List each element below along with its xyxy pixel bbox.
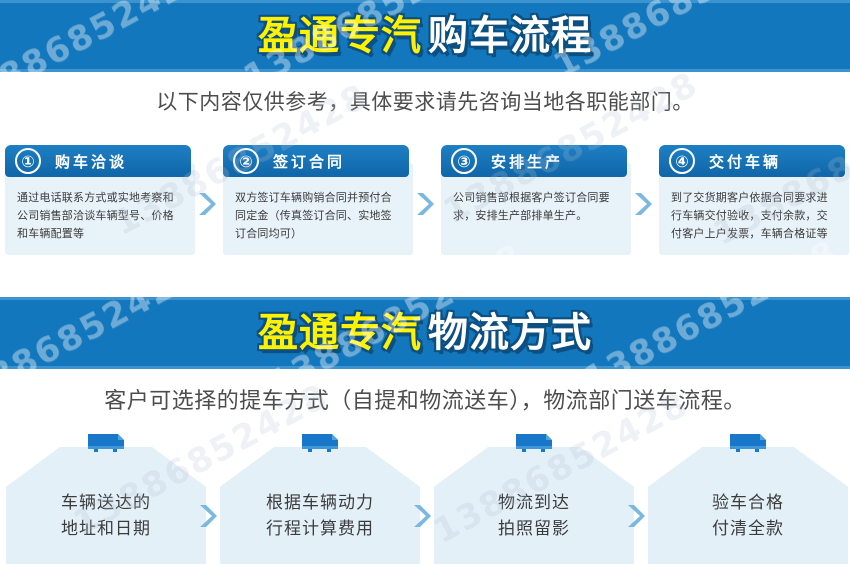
chevron-right-icon xyxy=(415,191,435,217)
banner-purchase-title: 盈通专汽购车流程 xyxy=(258,16,592,56)
logistics-step-line1: 根据车辆动力 xyxy=(266,491,374,517)
purchase-step-number-badge: ① xyxy=(15,148,41,174)
truck-icon xyxy=(299,431,341,455)
purchase-steps-row: 通过电话联系方式或实地考察和公司销售部洽谈车辆型号、价格和车辆配置等 ① 购车洽… xyxy=(0,145,850,255)
purchase-step-header: ③ 安排生产 xyxy=(441,145,627,177)
logistics-subtitle: 客户可选择的提车方式（自提和物流送车），物流部门送车流程。 xyxy=(0,383,850,415)
banner-purchase-process: 盈通专汽购车流程 xyxy=(0,0,850,72)
purchase-step-card[interactable]: 公司销售部根据客户签订合同要求，安排生产部排单生产。 ③ 安排生产 xyxy=(441,145,631,255)
truck-icon xyxy=(85,431,127,455)
purchase-subtitle: 以下内容仅供参考，具体要求请先咨询当地各职能部门。 xyxy=(0,86,850,116)
logistics-step-card[interactable]: 根据车辆动力 行程计算费用 xyxy=(220,425,420,564)
logistics-steps-row: 车辆送达的 地址和日期 根据车辆动力 行程计算费用 xyxy=(0,425,850,564)
purchase-step-header: ② 签订合同 xyxy=(223,145,409,177)
truck-icon xyxy=(727,431,769,455)
banner-section-label: 物流方式 xyxy=(428,310,592,356)
logistics-step-label: 车辆送达的 地址和日期 xyxy=(61,469,151,542)
chevron-right-icon xyxy=(412,503,432,529)
logistics-step-line2: 拍照留影 xyxy=(498,517,570,543)
purchase-step-title: 签订合同 xyxy=(273,151,345,172)
purchase-step-number-badge: ③ xyxy=(451,148,477,174)
purchase-step-card[interactable]: 通过电话联系方式或实地考察和公司销售部洽谈车辆型号、价格和车辆配置等 ① 购车洽… xyxy=(5,145,195,255)
logistics-step-card[interactable]: 物流到达 拍照留影 xyxy=(434,425,634,564)
banner-logistics-method: 盈通专汽物流方式 xyxy=(0,297,850,369)
purchase-step-title: 交付车辆 xyxy=(709,151,781,172)
logistics-step-shape: 物流到达 拍照留影 xyxy=(434,447,634,564)
banner-section-label: 购车流程 xyxy=(428,13,592,59)
logistics-step-shape: 车辆送达的 地址和日期 xyxy=(6,447,206,564)
logistics-step-label: 物流到达 拍照留影 xyxy=(498,469,570,542)
purchase-step-number-badge: ④ xyxy=(669,148,695,174)
logistics-step-label: 验车合格 付清全款 xyxy=(712,469,784,542)
logistics-step-line1: 验车合格 xyxy=(712,491,784,517)
truck-icon xyxy=(513,431,555,455)
chevron-right-icon xyxy=(198,503,218,529)
purchase-step-description: 到了交货期客户依据合同要求进行车辆交付验收，支付余款，交付客户上户发票，车辆合格… xyxy=(671,189,837,243)
purchase-step-title: 安排生产 xyxy=(491,151,563,172)
banner-brand-label: 盈通专汽 xyxy=(258,310,422,356)
purchase-step-header: ④ 交付车辆 xyxy=(659,145,845,177)
purchase-step-title: 购车洽谈 xyxy=(55,151,127,172)
logistics-step-line1: 物流到达 xyxy=(498,491,570,517)
logistics-step-shape: 验车合格 付清全款 xyxy=(648,447,848,564)
logistics-step-line2: 地址和日期 xyxy=(61,517,151,543)
chevron-right-icon xyxy=(626,503,646,529)
purchase-step-card[interactable]: 双方签订车辆购销合同并预付合同定金（传真签订合同、实地签订合同均可） ② 签订合… xyxy=(223,145,413,255)
chevron-right-icon xyxy=(197,191,217,217)
logistics-step-label: 根据车辆动力 行程计算费用 xyxy=(266,469,374,542)
purchase-step-number-badge: ② xyxy=(233,148,259,174)
chevron-right-icon xyxy=(633,191,653,217)
logistics-step-line1: 车辆送达的 xyxy=(61,491,151,517)
logistics-step-line2: 付清全款 xyxy=(712,517,784,543)
logistics-step-card[interactable]: 验车合格 付清全款 xyxy=(648,425,848,564)
banner-logistics-title: 盈通专汽物流方式 xyxy=(258,313,592,353)
purchase-step-description: 双方签订车辆购销合同并预付合同定金（传真签订合同、实地签订合同均可） xyxy=(235,189,401,243)
purchase-step-description: 公司销售部根据客户签订合同要求，安排生产部排单生产。 xyxy=(453,189,619,225)
logistics-step-line2: 行程计算费用 xyxy=(266,517,374,543)
logistics-step-card[interactable]: 车辆送达的 地址和日期 xyxy=(6,425,206,564)
banner-brand-label: 盈通专汽 xyxy=(258,13,422,59)
logistics-step-shape: 根据车辆动力 行程计算费用 xyxy=(220,447,420,564)
purchase-step-description: 通过电话联系方式或实地考察和公司销售部洽谈车辆型号、价格和车辆配置等 xyxy=(17,189,183,243)
purchase-step-card[interactable]: 到了交货期客户依据合同要求进行车辆交付验收，支付余款，交付客户上户发票，车辆合格… xyxy=(659,145,849,255)
purchase-step-header: ① 购车洽谈 xyxy=(5,145,191,177)
